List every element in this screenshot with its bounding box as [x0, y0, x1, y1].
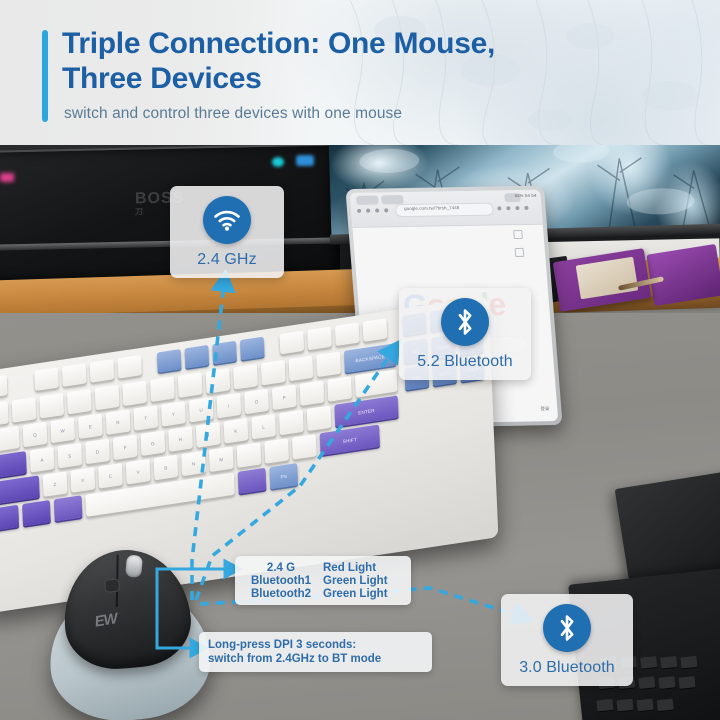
key-alt-left[interactable] — [54, 495, 83, 521]
key-j[interactable]: J — [196, 422, 221, 448]
pink-led-indicator — [0, 173, 14, 182]
header-banner: Triple Connection: One Mouse, Three Devi… — [0, 0, 720, 145]
key-f9[interactable] — [280, 331, 305, 355]
key-8[interactable] — [205, 368, 230, 394]
laptop-key[interactable] — [680, 656, 697, 669]
callout-bluetooth-52: 5.2 Bluetooth — [399, 288, 531, 380]
grid-icon[interactable] — [513, 230, 523, 239]
key-f[interactable]: F — [113, 434, 138, 460]
back-icon[interactable] — [366, 209, 370, 213]
table-row: 2.4 G Red Light — [243, 561, 403, 574]
key-6[interactable] — [150, 376, 175, 402]
key-f11[interactable] — [335, 322, 360, 346]
page-title: Triple Connection: One Mouse, Three Devi… — [62, 26, 672, 96]
bluetooth-glyph — [555, 613, 579, 643]
legend-mode: 2.4 G — [243, 561, 319, 574]
accent-bar — [42, 30, 48, 122]
download-icon[interactable] — [506, 206, 510, 210]
laptop-key[interactable] — [616, 699, 633, 712]
wifi-icon — [203, 196, 251, 244]
key-f4[interactable] — [117, 355, 142, 379]
key-f1[interactable] — [34, 367, 59, 391]
key-a[interactable]: A — [30, 447, 55, 473]
key-f12[interactable] — [363, 318, 388, 342]
dpi-instruction-note: Long-press DPI 3 seconds: switch from 2.… — [199, 632, 432, 672]
key-backslash[interactable] — [355, 369, 398, 397]
legend-light: Green Light — [319, 574, 403, 587]
page-side-icons — [511, 228, 540, 264]
key-y[interactable]: Y — [161, 401, 186, 427]
led-indicator-legend: 2.4 G Red Light Bluetooth1 Green Light B… — [235, 556, 411, 605]
key-backtick[interactable] — [0, 401, 9, 427]
key-7[interactable] — [178, 372, 203, 398]
key-shift-left[interactable] — [0, 475, 40, 505]
key-0[interactable] — [261, 360, 286, 386]
key-fn[interactable]: FN — [269, 463, 298, 489]
key-4[interactable] — [95, 385, 120, 411]
browser-tab[interactable] — [381, 195, 404, 204]
key-capslock[interactable] — [0, 451, 27, 479]
forward-icon[interactable] — [375, 208, 379, 212]
blue-led-indicator — [296, 155, 314, 166]
laptop-key[interactable] — [678, 676, 695, 689]
key-m[interactable]: M — [209, 446, 234, 472]
key-f8[interactable] — [240, 337, 265, 361]
laptop-key[interactable] — [657, 699, 674, 712]
legend-mode: Bluetooth2 — [243, 587, 319, 600]
key-bracket-right[interactable] — [327, 376, 352, 402]
callout-label: 2.4 GHz — [197, 251, 256, 269]
key-f2[interactable] — [62, 363, 87, 387]
key-win[interactable] — [22, 500, 51, 526]
table-row: Bluetooth1 Green Light — [243, 574, 403, 587]
key-v[interactable]: V — [126, 459, 151, 485]
legend-mode: Bluetooth1 — [243, 574, 319, 587]
laptop-key[interactable] — [640, 656, 657, 669]
key-r[interactable]: R — [106, 409, 131, 435]
legend-light: Green Light — [319, 587, 403, 600]
home-icon[interactable] — [357, 209, 361, 213]
mouse-brand-logo: EW — [93, 610, 118, 630]
key-tab[interactable] — [0, 426, 20, 453]
footer-right-text: 登录 — [540, 406, 549, 414]
extensions-icon[interactable] — [515, 206, 519, 210]
callout-label: 5.2 Bluetooth — [417, 353, 513, 371]
bluetooth-glyph — [453, 307, 477, 337]
key-i[interactable]: I — [217, 393, 242, 419]
laptop-key[interactable] — [596, 699, 613, 712]
key-minus[interactable] — [289, 356, 314, 382]
key-q[interactable]: Q — [23, 422, 48, 448]
key-f7[interactable] — [212, 341, 237, 365]
address-bar[interactable]: google.com.tw/?brsh_7448 — [395, 202, 494, 217]
key-comma[interactable] — [237, 442, 262, 468]
key-shift-right[interactable]: SHIFT — [320, 425, 380, 456]
mouse-scroll-wheel[interactable] — [125, 555, 143, 578]
key-f3[interactable] — [90, 359, 115, 383]
key-semicolon[interactable] — [279, 410, 304, 436]
key-5[interactable] — [122, 380, 147, 406]
legend-light: Red Light — [319, 561, 403, 574]
notebook-purple-far — [646, 244, 720, 306]
reload-icon[interactable] — [384, 208, 388, 212]
key-enter[interactable]: ENTER — [334, 395, 398, 427]
page-subtitle: switch and control three devices with on… — [64, 105, 402, 123]
laptop-key[interactable] — [637, 699, 654, 712]
key-esc[interactable] — [0, 375, 7, 399]
table-row: Bluetooth2 Green Light — [243, 587, 403, 600]
key-g[interactable]: G — [141, 430, 166, 456]
key-ctrl-left[interactable] — [0, 505, 19, 532]
cyan-led-indicator — [272, 157, 284, 167]
key-o[interactable]: O — [244, 389, 269, 415]
key-1[interactable] — [12, 397, 37, 423]
key-backspace[interactable]: BACKSPACE — [344, 343, 396, 373]
bluetooth-icon — [441, 298, 489, 346]
key-b[interactable]: B — [154, 455, 179, 481]
key-w[interactable]: W — [50, 418, 75, 444]
wireless-mouse[interactable]: EW — [41, 543, 215, 720]
led-legend-table: 2.4 G Red Light Bluetooth1 Green Light B… — [243, 561, 403, 600]
callout-label: 3.0 Bluetooth — [519, 659, 615, 677]
key-3[interactable] — [67, 389, 92, 415]
key-bracket-left[interactable] — [300, 380, 325, 406]
browser-tab[interactable] — [356, 196, 379, 205]
key-s[interactable]: S — [57, 443, 82, 469]
wifi-glyph — [212, 208, 242, 232]
share-icon[interactable] — [515, 248, 525, 257]
callout-bluetooth-30: 3.0 Bluetooth — [501, 594, 633, 686]
key-quote[interactable] — [307, 406, 332, 432]
bookmark-icon[interactable] — [497, 206, 501, 210]
key-equals[interactable] — [316, 351, 341, 377]
browser-toolbar: google.com.tw/?brsh_7448 84% 54 54 — [350, 190, 543, 228]
laptop-key[interactable] — [658, 676, 675, 689]
key-9[interactable] — [233, 364, 258, 390]
key-f10[interactable] — [307, 327, 332, 351]
key-t[interactable]: T — [133, 405, 158, 431]
key-p[interactable]: P — [272, 384, 297, 410]
mouse-dpi-button[interactable] — [104, 579, 120, 593]
key-slash[interactable] — [292, 434, 317, 460]
callout-wifi-24ghz: 2.4 GHz — [170, 186, 284, 278]
laptop-key[interactable] — [660, 656, 677, 669]
key-e[interactable]: E — [78, 413, 103, 439]
key-l[interactable]: L — [251, 414, 276, 440]
key-z[interactable]: Z — [43, 471, 68, 497]
laptop-key[interactable] — [638, 676, 655, 689]
key-k[interactable]: K — [224, 418, 249, 444]
key-u[interactable]: U — [189, 397, 214, 423]
product-infographic: Triple Connection: One Mouse, Three Devi… — [0, 0, 720, 720]
key-h[interactable]: H — [168, 426, 193, 452]
key-2[interactable] — [39, 393, 64, 419]
key-alt-right[interactable] — [238, 468, 267, 494]
key-d[interactable]: D — [85, 439, 110, 465]
profile-icon[interactable] — [524, 206, 528, 210]
address-bar-url: google.com.tw/?brsh_7448 — [404, 205, 460, 211]
bluetooth-icon — [543, 604, 591, 652]
status-bar-text: 84% 54 54 — [514, 193, 536, 198]
key-f6[interactable] — [185, 345, 210, 369]
key-c[interactable]: C — [98, 463, 123, 489]
key-n[interactable]: N — [181, 451, 206, 477]
key-f5[interactable] — [157, 349, 182, 373]
key-x[interactable]: X — [70, 467, 95, 493]
key-period[interactable] — [264, 438, 289, 464]
